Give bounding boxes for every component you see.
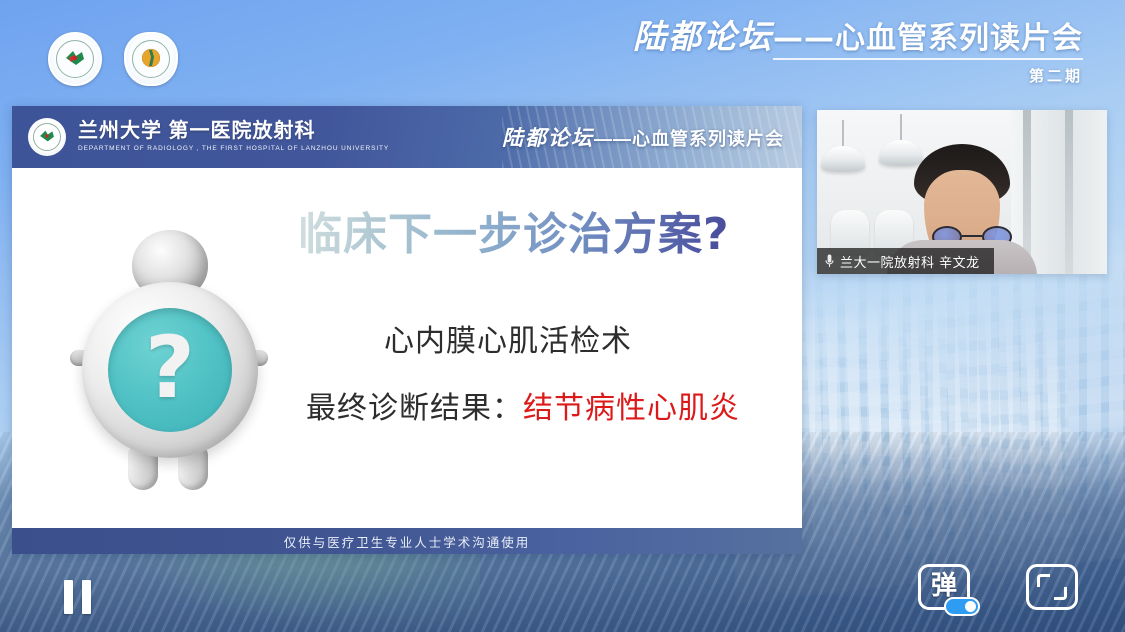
question-disc-inner: ? (108, 308, 232, 432)
slide-footer-bar: 仅供与医疗卫生专业人士学术沟通使用 (12, 528, 802, 554)
background-hospital-building-secondary (765, 292, 1075, 608)
presentation-slide[interactable]: 兰州大学 第一医院放射科 DEPARTMENT OF RADIOLOGY , T… (12, 106, 802, 554)
forum-title-subtitle: ——心血管系列读片会 (773, 21, 1083, 60)
slide-banner-forum-title: 陆都论坛——心血管系列读片会 (502, 122, 784, 152)
slide-banner-department-cn: 兰州大学 第一医院放射科 (78, 121, 389, 142)
microphone-icon (825, 254, 834, 268)
danmaku-char-label: 弹 (931, 573, 957, 599)
slide-banner-department-block: 兰州大学 第一医院放射科 DEPARTMENT OF RADIOLOGY , T… (78, 121, 389, 153)
danmaku-switch[interactable] (944, 597, 980, 616)
fullscreen-corner-bottom-right (1054, 587, 1067, 600)
lanzhou-university-first-hospital-logo (48, 32, 102, 86)
speaker-name-caption: 兰大一院放射科 辛文龙 (817, 248, 994, 274)
webcam-window-mullion-1 (1065, 110, 1073, 274)
mascot-question-disc: ? (82, 282, 258, 458)
slide-content-area: ? 临床下一步诊治方案? 心内膜心肌活检术 最终诊断结果：结节病性心肌炎 (12, 168, 802, 528)
fullscreen-button[interactable] (1026, 564, 1078, 610)
slide-banner-forum-sub: ——心血管系列读片会 (594, 129, 784, 149)
fullscreen-corner-top-left (1037, 574, 1050, 587)
slide-diagnosis-label: 最终诊断结果： (306, 391, 523, 426)
speaker-name-text: 兰大一院放射科 辛文龙 (840, 252, 980, 271)
danmaku-toggle-button[interactable]: 弹 (918, 564, 970, 610)
association-emblem-icon (138, 47, 164, 69)
pause-bar-right (82, 580, 91, 614)
slide-procedure-text: 心内膜心肌活检术 (384, 316, 632, 360)
slide-banner: 兰州大学 第一医院放射科 DEPARTMENT OF RADIOLOGY , T… (12, 106, 802, 168)
slide-footer-disclaimer: 仅供与医疗卫生专业人士学术沟通使用 (284, 532, 531, 551)
slide-banner-hospital-logo (28, 118, 66, 156)
slide-diagnosis-line: 最终诊断结果：结节病性心肌炎 (306, 383, 740, 427)
pause-button[interactable] (58, 580, 96, 614)
slide-banner-forum-main: 陆都论坛 (502, 126, 594, 150)
question-mark-icon: ? (145, 325, 195, 411)
pause-bar-left (64, 580, 73, 614)
glasses-bridge (962, 235, 982, 237)
forum-title-main: 陆都论坛 (633, 20, 773, 56)
chinese-medical-association-logo (124, 32, 178, 86)
top-logo-group (48, 32, 178, 86)
slide-title: 临床下一步诊治方案? (298, 198, 730, 262)
hospital-emblem-icon (62, 47, 88, 69)
slide-banner-department-en: DEPARTMENT OF RADIOLOGY , THE FIRST HOSP… (78, 146, 389, 153)
video-player-stage: 陆都论坛——心血管系列读片会 第二期 兰州大学 第一医院放射科 DEPARTME… (0, 0, 1125, 632)
question-mark-mascot-figure: ? (70, 230, 268, 490)
hospital-emblem-icon (37, 128, 57, 145)
slide-diagnosis-value: 结节病性心肌炎 (523, 391, 740, 426)
forum-title-block: 陆都论坛——心血管系列读片会 第二期 (633, 22, 1083, 84)
forum-issue-label: 第二期 (633, 69, 1083, 84)
speaker-webcam-panel[interactable]: 兰大一院放射科 辛文龙 (817, 110, 1107, 274)
fullscreen-icon-frame (1026, 564, 1078, 610)
